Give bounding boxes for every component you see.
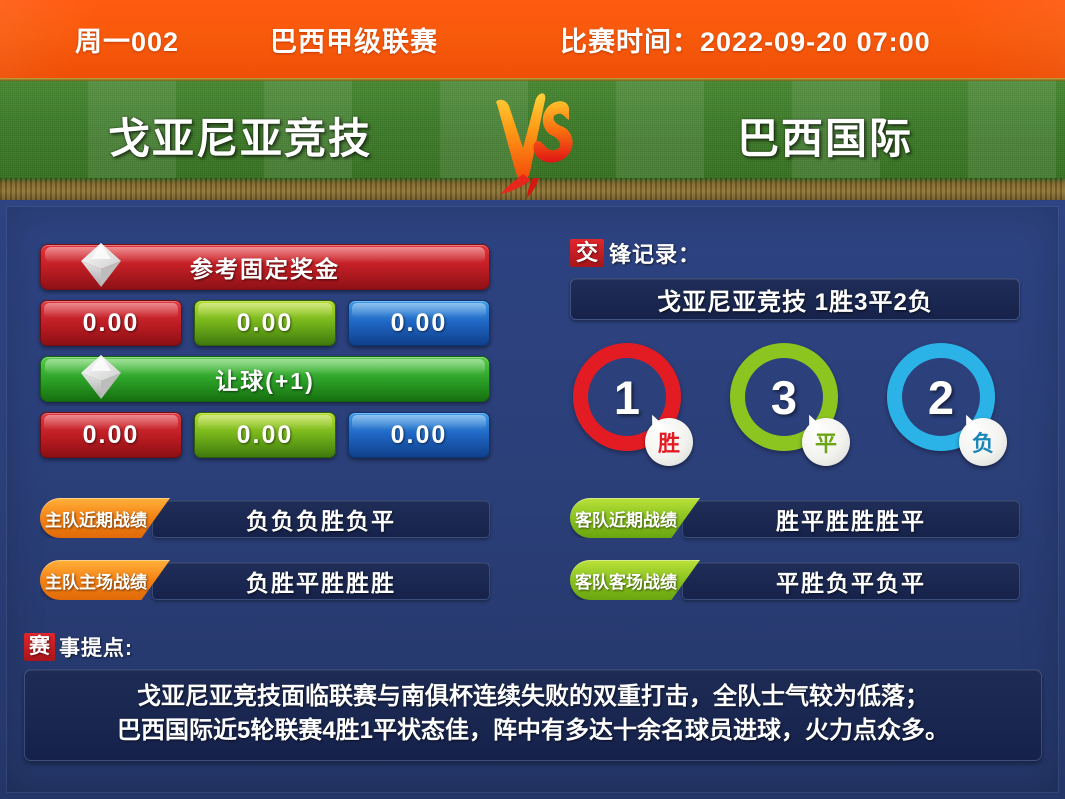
away-team-name: 巴西国际 — [585, 98, 1065, 180]
form-row-home-venue: 主队主场战绩 负胜平胜胜胜 — [40, 560, 490, 600]
tips-line-1: 戈亚尼亚竞技面临联赛与南俱杯连续失败的双重打击，全队士气较为低落； — [41, 680, 1025, 714]
form-value-away-venue: 平胜负平负平 — [682, 562, 1020, 600]
handicap-odds-row: 0.00 0.00 0.00 — [40, 412, 490, 458]
match-preview-screen: 周一002 巴西甲级联赛 比赛时间：2022-09-20 07:00 戈亚尼亚竞… — [0, 0, 1065, 799]
form-label-home-recent: 主队近期战绩 — [40, 498, 170, 538]
fixed-odd-win[interactable]: 0.00 — [40, 300, 182, 346]
fixed-prize-odds-row: 0.00 0.00 0.00 — [40, 300, 490, 346]
match-header: 周一002 巴西甲级联赛 比赛时间：2022-09-20 07:00 — [0, 0, 1065, 78]
form-value-home-recent: 负负负胜负平 — [152, 500, 490, 538]
tips-badge-char: 赛 — [24, 633, 55, 661]
form-row-away-recent: 客队近期战绩 胜平胜胜胜平 — [570, 498, 1020, 538]
odd-gloss — [44, 303, 178, 318]
match-round-label: 周一002 — [75, 20, 179, 59]
handicap-odd-lose[interactable]: 0.00 — [348, 412, 490, 458]
handicap-odd-win[interactable]: 0.00 — [40, 412, 182, 458]
match-time-label: 比赛时间：2022-09-20 07:00 — [560, 20, 931, 59]
odds-panel: 参考固定奖金 0.00 0.00 0.00 — [40, 244, 490, 468]
fixed-prize-header: 参考固定奖金 — [40, 244, 490, 290]
tips-line-2: 巴西国际近5轮联赛4胜1平状态佳，阵中有多达十余名球员进球，火力点众多。 — [41, 714, 1025, 748]
h2h-summary: 戈亚尼亚竞技 1胜3平2负 — [570, 278, 1020, 320]
h2h-title: 交 锋记录： — [570, 238, 1020, 268]
fixed-prize-title-text: 参考固定奖金 — [190, 250, 340, 284]
odd-gloss — [198, 303, 332, 318]
h2h-ring-win: 1 胜 — [573, 340, 701, 480]
league-name-label: 巴西甲级联赛 — [270, 20, 438, 59]
vs-icon — [480, 84, 585, 200]
match-tips-panel: 赛 事提点: 戈亚尼亚竞技面临联赛与南俱杯连续失败的双重打击，全队士气较为低落；… — [24, 632, 1042, 761]
form-row-away-venue: 客队客场战绩 平胜负平负平 — [570, 560, 1020, 600]
h2h-ring-lose: 2 负 — [887, 340, 1015, 480]
handicap-odd-draw[interactable]: 0.00 — [194, 412, 336, 458]
h2h-badge-char: 交 — [570, 239, 604, 267]
diamond-gem-icon — [79, 239, 123, 291]
main-body: 参考固定奖金 0.00 0.00 0.00 — [0, 200, 1065, 799]
h2h-ring-draw: 3 平 — [730, 340, 858, 480]
odd-gloss — [44, 415, 178, 430]
h2h-rings: 1 胜 3 平 2 负 — [565, 340, 1025, 480]
handicap-title-text: 让球(+1) — [215, 362, 315, 396]
odd-gloss — [352, 303, 486, 318]
fixed-odd-lose[interactable]: 0.00 — [348, 300, 490, 346]
odd-gloss — [352, 415, 486, 430]
pitch-top-edge — [0, 78, 1065, 81]
tips-title: 赛 事提点: — [24, 632, 1042, 662]
handicap-header: 让球(+1) — [40, 356, 490, 402]
form-value-home-venue: 负胜平胜胜胜 — [152, 562, 490, 600]
ring-label-draw: 平 — [802, 418, 850, 466]
fixed-odd-draw[interactable]: 0.00 — [194, 300, 336, 346]
form-label-away-recent: 客队近期战绩 — [570, 498, 700, 538]
tips-title-text: 事提点: — [59, 632, 133, 662]
form-label-home-venue: 主队主场战绩 — [40, 560, 170, 600]
ring-label-win: 胜 — [645, 418, 693, 466]
diamond-gem-icon — [79, 351, 123, 403]
form-label-away-venue: 客队客场战绩 — [570, 560, 700, 600]
form-value-away-recent: 胜平胜胜胜平 — [682, 500, 1020, 538]
tips-box: 戈亚尼亚竞技面临联赛与南俱杯连续失败的双重打击，全队士气较为低落； 巴西国际近5… — [24, 669, 1042, 761]
head-to-head-panel: 交 锋记录： 戈亚尼亚竞技 1胜3平2负 — [570, 238, 1020, 320]
form-row-home-recent: 主队近期战绩 负负负胜负平 — [40, 498, 490, 538]
ring-label-lose: 负 — [959, 418, 1007, 466]
odd-gloss — [198, 415, 332, 430]
h2h-title-text: 锋记录： — [609, 237, 701, 269]
home-team-name: 戈亚尼亚竞技 — [0, 98, 480, 180]
